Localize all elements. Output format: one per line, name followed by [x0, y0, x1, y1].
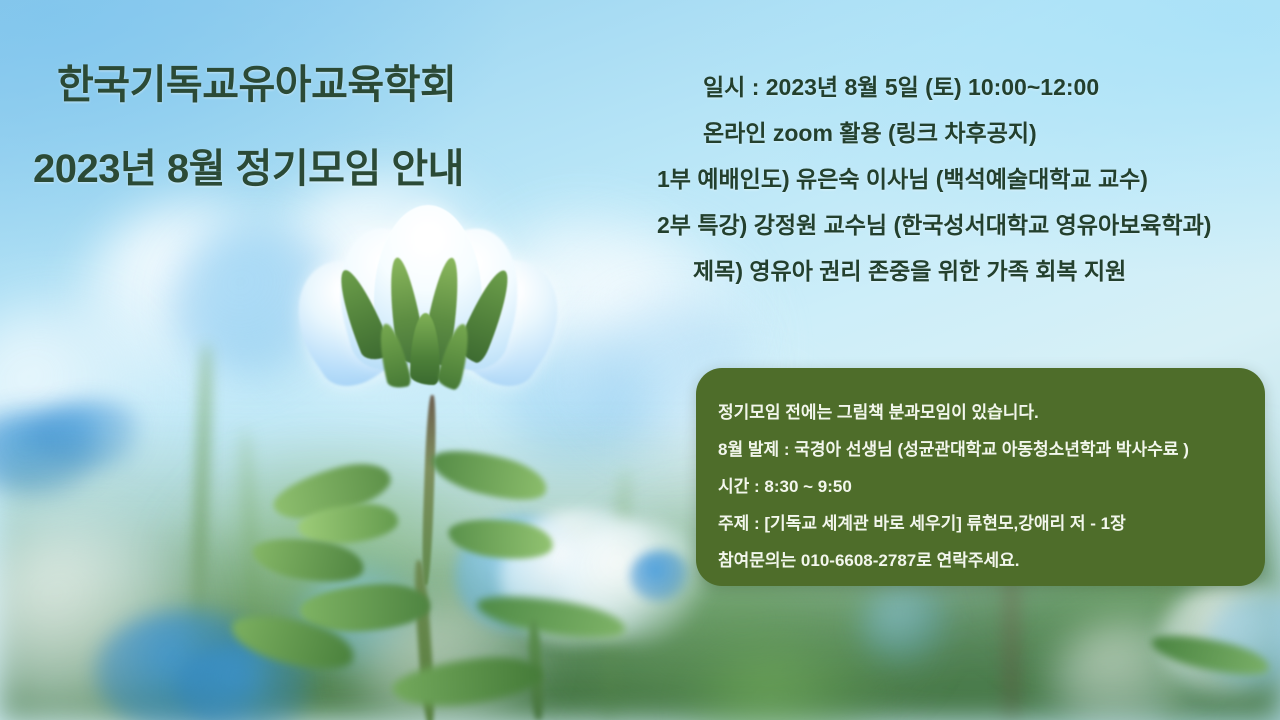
event-detail-datetime: 일시 : 2023년 8월 5일 (토) 10:00~12:00	[640, 64, 1260, 110]
poster-canvas: 한국기독교유아교육학회 2023년 8월 정기모임 안내 일시 : 2023년 …	[0, 0, 1280, 720]
notice-line-subject: 주제 : [기독교 세계관 바로 세우기] 류현모,강애리 저 - 1장	[718, 505, 1265, 542]
event-detail-platform: 온라인 zoom 활용 (링크 차후공지)	[640, 110, 1260, 156]
hero-flower-head	[295, 205, 560, 395]
notice-line-contact: 참여문의는 010-6608-2787로 연락주세요.	[718, 542, 1265, 579]
notice-panel: 정기모임 전에는 그림책 분과모임이 있습니다. 8월 발제 : 국경아 선생님…	[696, 368, 1265, 586]
notice-line-time: 시간 : 8:30 ~ 9:50	[718, 468, 1265, 505]
event-detail-part-1: 1부 예배인도) 유은숙 이사님 (백석예술대학교 교수)	[640, 156, 1260, 202]
event-details-block: 일시 : 2023년 8월 5일 (토) 10:00~12:00 온라인 zoo…	[640, 64, 1260, 294]
page-title-line-2: 2023년 8월 정기모임 안내	[33, 136, 464, 194]
page-title-line-1: 한국기독교유아교육학회	[57, 52, 456, 110]
notice-line-intro: 정기모임 전에는 그림책 분과모임이 있습니다.	[718, 394, 1265, 431]
notice-line-presenter: 8월 발제 : 국경아 선생님 (성균관대학교 아동청소년학과 박사수료 )	[718, 431, 1265, 468]
event-detail-part-2: 2부 특강) 강정원 교수님 (한국성서대학교 영유아보육학과)	[640, 202, 1260, 248]
event-detail-topic: 제목) 영유아 권리 존중을 위한 가족 회복 지원	[640, 248, 1260, 294]
